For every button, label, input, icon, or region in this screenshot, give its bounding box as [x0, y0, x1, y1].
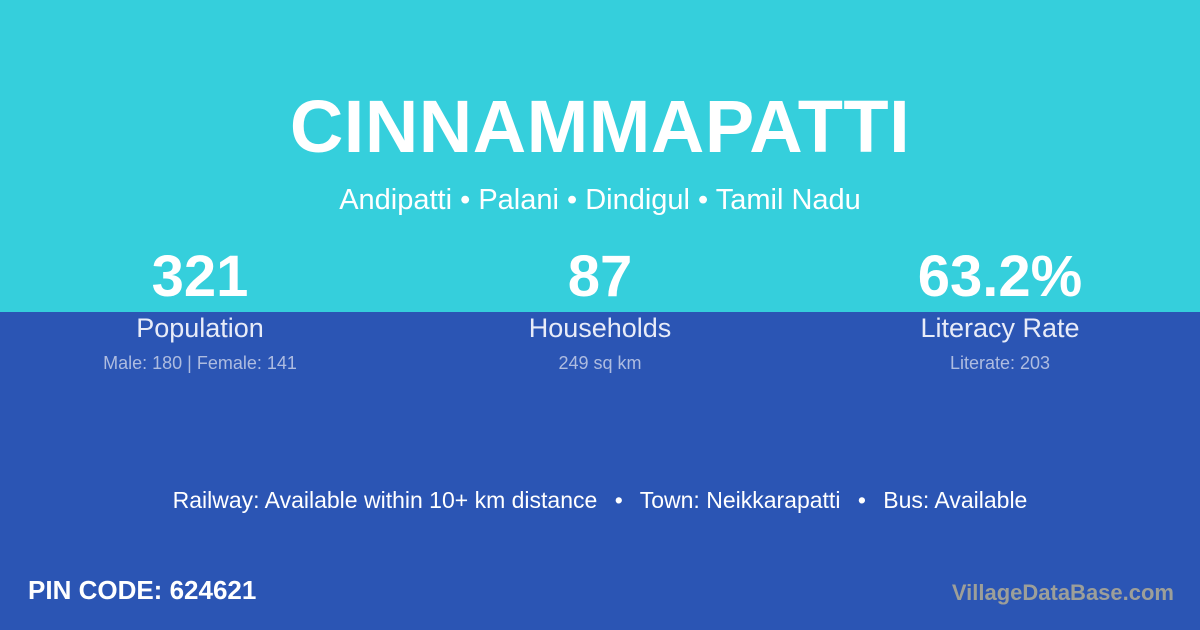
- info-railway: Railway: Available within 10+ km distanc…: [173, 487, 598, 513]
- stat-households-detail: 249 sq km: [400, 352, 800, 374]
- stat-population: 321 Population Male: 180 | Female: 141: [0, 246, 400, 374]
- pin-code-text: PIN CODE: 624621: [28, 574, 256, 606]
- stat-literacy-detail: Literate: 203: [800, 352, 1200, 374]
- stat-literacy: 63.2% Literacy Rate Literate: 203: [800, 246, 1200, 374]
- village-info-card: CINNAMMAPATTI Andipatti • Palani • Dindi…: [0, 0, 1200, 630]
- site-branding-watermark: VillageDataBase.com: [952, 579, 1174, 607]
- info-separator-1: •: [604, 485, 634, 515]
- amenities-info-line: Railway: Available within 10+ km distanc…: [0, 485, 1200, 515]
- statistics-row: 321 Population Male: 180 | Female: 141 8…: [0, 0, 1200, 400]
- stat-population-detail: Male: 180 | Female: 141: [0, 352, 400, 374]
- stat-households: 87 Households 249 sq km: [400, 246, 800, 374]
- stat-population-label: Population: [0, 312, 400, 344]
- stat-households-label: Households: [400, 312, 800, 344]
- stat-literacy-label: Literacy Rate: [800, 312, 1200, 344]
- info-separator-2: •: [847, 485, 877, 515]
- info-bus: Bus: Available: [883, 487, 1027, 513]
- stat-households-value: 87: [400, 246, 800, 308]
- card-footer: PIN CODE: 624621 VillageDataBase.com: [0, 570, 1200, 630]
- stat-literacy-value: 63.2%: [800, 246, 1200, 308]
- info-town: Town: Neikkarapatti: [640, 487, 841, 513]
- stat-population-value: 321: [0, 246, 400, 308]
